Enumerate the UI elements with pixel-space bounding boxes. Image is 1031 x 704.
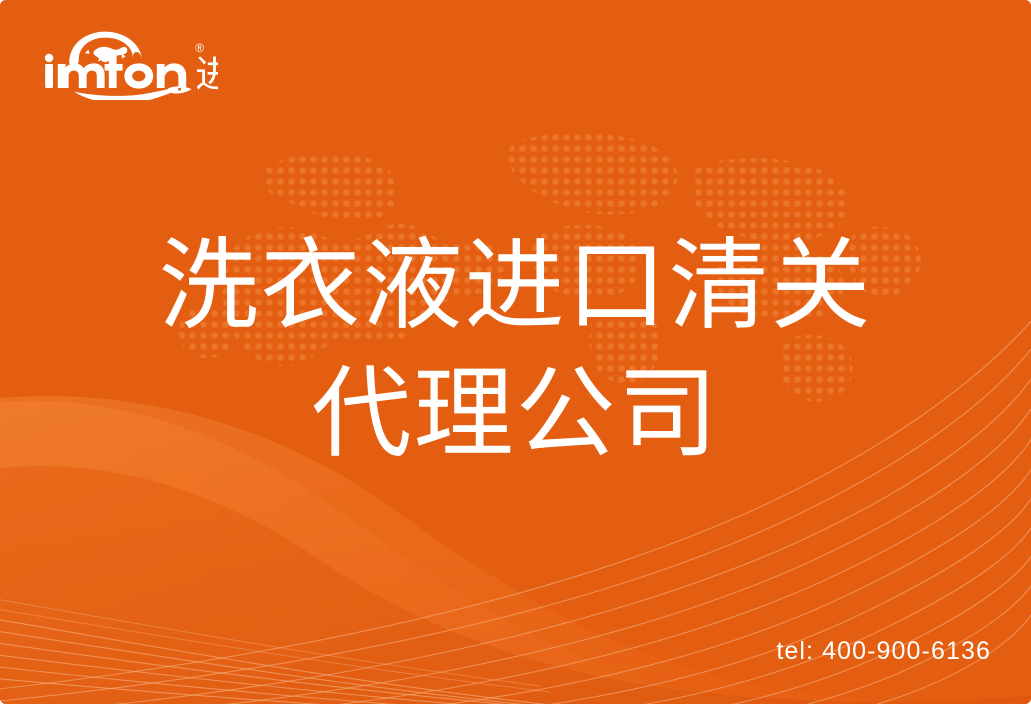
swoosh-eye-icon [178,88,181,91]
logo-chinese-name: 进贸通 [195,52,218,96]
wordmark-imton [45,54,186,89]
page-title: 洗衣液进口清关 代理公司 [0,222,1031,478]
landmass-spur4-icon [85,50,90,54]
headline-line-1: 洗衣液进口清关 [0,222,1031,350]
promo-banner: 进贸通 ® 洗衣液进口清关 代理公司 tel: 400-900-6136 [0,0,1031,704]
brand-logo[interactable]: 进贸通 ® [38,28,218,100]
registered-trademark-icon: ® [195,41,204,55]
headline-line-2: 代理公司 [0,350,1031,478]
landmass-spur3-icon [121,54,125,59]
contact-phone[interactable]: tel: 400-900-6136 [776,637,991,666]
